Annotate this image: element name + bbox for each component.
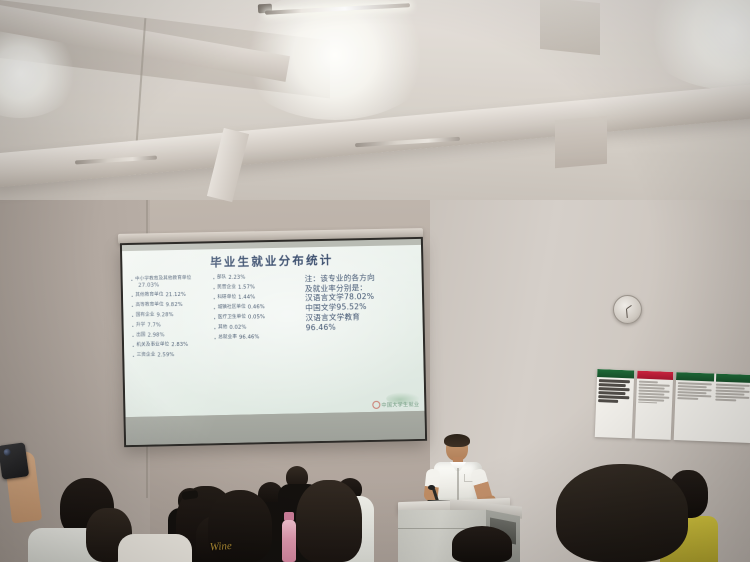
audience-body [118, 534, 192, 562]
slide-column-middle: • 部队 2.23% • 民营企业 1.57% • 科研单位 1.44% [213, 275, 299, 363]
clock-minute-hand [626, 309, 628, 318]
board-text-line [677, 397, 698, 399]
lecture-hall-photo: 毕业生就业分布统计 • 中小学教育及其他教育单位 27.03% • [0, 0, 750, 562]
bullet-value: 0.46% [248, 305, 265, 311]
slide-columns: • 中小学教育及其他教育单位 27.03% • 其他教育单位 21.12% [131, 272, 418, 364]
slide-bullet: • 科研单位 1.44% [213, 295, 297, 302]
ceiling [0, 0, 750, 200]
ceiling-tube-light-1 [265, 3, 410, 15]
ceiling-drop-panel [540, 0, 600, 55]
circle-stamp-icon [372, 401, 380, 409]
bullet-label: 其他教育单位 [135, 293, 163, 298]
slide-bullet: • 民营企业 1.57% [213, 285, 297, 292]
bullet-dot-icon: • [131, 294, 133, 299]
bullet-dot-icon: • [131, 278, 133, 283]
slide-bullet: • 升学 7.7% [132, 323, 210, 330]
bullet-dot-icon: • [213, 296, 215, 301]
bullet-label: 升学 [136, 324, 145, 329]
slide-column-left: • 中小学教育及其他教育单位 27.03% • 其他教育单位 21.12% [131, 276, 211, 364]
bullet-value: 96.46% [239, 336, 260, 342]
slide-note-column: 注：该专业的各方向 及就业率分别是： 汉语言文学78.02% 中国文学95.52… [301, 272, 417, 361]
bullet-dot-icon: • [214, 336, 216, 341]
bullet-dot-icon: • [132, 324, 134, 329]
audience [0, 430, 750, 562]
slide-logo-text: 中国大学生就业 [381, 400, 419, 408]
bullet-dot-icon: • [131, 304, 133, 309]
wall-clock [613, 295, 642, 324]
bullet-value: 2.23% [228, 276, 245, 282]
board-text-line [598, 391, 625, 395]
slide-logo: 中国大学生就业 [372, 400, 419, 409]
bullet-label: 高等教育单位 [136, 303, 164, 308]
slide-bullet: • 部队 2.23% [213, 275, 297, 282]
audience-head [296, 480, 362, 562]
bullet-label: 总就业率 [218, 336, 237, 341]
board-text-line [638, 399, 665, 402]
bullet-label: 中小学教育及其他教育单位 [135, 276, 191, 282]
pink-water-bottle [282, 520, 296, 562]
bullet-label: 出国 [136, 334, 145, 339]
smartphone [0, 442, 29, 479]
slide-title: 毕业生就业分布统计 [122, 250, 421, 272]
notice-board-green-1 [595, 369, 634, 438]
slide-bullet: • 国有企业 9.28% [131, 313, 209, 320]
slide-bullet: • 出国 2.98% [132, 333, 210, 340]
bullet-dot-icon: • [213, 306, 215, 311]
slide-bullet: • 三资企业 2.59% [132, 353, 210, 360]
slide-bullet: • 高等教育单位 9.82% [131, 302, 209, 309]
projection-screen: 毕业生就业分布统计 • 中小学教育及其他教育单位 27.03% • [120, 237, 427, 447]
board-text-line [715, 399, 736, 401]
board-text-line [598, 399, 618, 402]
slide-bullet: • 总就业率 96.46% [214, 335, 298, 342]
bullet-value: 7.7% [147, 324, 161, 330]
shirt-print-text: Wine [209, 539, 250, 560]
bullet-value: 9.28% [157, 313, 174, 319]
slide-bullet: • 其他 0.02% [214, 325, 298, 332]
bullet-value: 27.03% [135, 283, 191, 290]
bullet-label: 民营企业 [217, 286, 236, 291]
bullet-dot-icon: • [214, 326, 216, 331]
bullet-value: 0.02% [229, 326, 246, 332]
bullet-value: 2.98% [148, 334, 165, 340]
slide-bullet: • 医疗卫生单位 0.05% [213, 315, 297, 322]
bullet-value: 2.59% [157, 353, 174, 359]
board-text-line [598, 395, 629, 399]
slide-bullet: • 机关及事业单位 2.83% [132, 343, 210, 350]
bullet-value: 21.12% [165, 293, 186, 299]
camera-lens-icon [3, 448, 11, 456]
bullet-dot-icon: • [131, 314, 133, 319]
ceiling-beam-main [0, 82, 750, 187]
board-text-line [599, 383, 626, 387]
bullet-value: 1.57% [238, 285, 255, 291]
bullet-label: 机关及事业单位 [136, 343, 169, 348]
bullet-label: 医疗卫生单位 [218, 316, 246, 321]
ceiling-drop-panel-right [555, 116, 607, 169]
bullet-label: 其他 [218, 326, 227, 331]
bullet-label: 三资企业 [137, 354, 156, 359]
board-text-line [638, 381, 658, 383]
slide-note-line: 96.46% [306, 321, 416, 333]
bullet-dot-icon: • [213, 316, 215, 321]
slide-bullet: • 城镇社区单位 0.46% [213, 305, 297, 312]
audience-head [452, 526, 512, 562]
bullet-dot-icon: • [132, 344, 134, 349]
presentation-slide: 毕业生就业分布统计 • 中小学教育及其他教育单位 27.03% • [122, 245, 424, 417]
board-text-line [638, 401, 658, 403]
bullet-label: 部队 [217, 276, 226, 281]
bullet-label: 城镇社区单位 [218, 306, 246, 311]
bullet-value: 9.82% [166, 303, 183, 309]
slide-bullet: • 其他教育单位 21.12% [131, 292, 209, 299]
bullet-dot-icon: • [213, 286, 215, 291]
slide-bullet: • 中小学教育及其他教育单位 27.03% [131, 276, 209, 289]
ceiling-light-glow-right [640, 0, 750, 90]
bullet-value: 1.44% [238, 295, 255, 301]
clock-hour-hand [626, 305, 632, 310]
bullet-label: 科研单位 [217, 296, 236, 301]
bullet-value: 2.83% [171, 343, 188, 349]
bullet-dot-icon: • [132, 334, 134, 339]
bullet-dot-icon: • [213, 276, 215, 281]
audience-head-foreground [556, 464, 688, 562]
bullet-dot-icon: • [132, 354, 134, 359]
bullet-label: 国有企业 [136, 314, 155, 319]
bullet-value: 0.05% [248, 315, 265, 321]
